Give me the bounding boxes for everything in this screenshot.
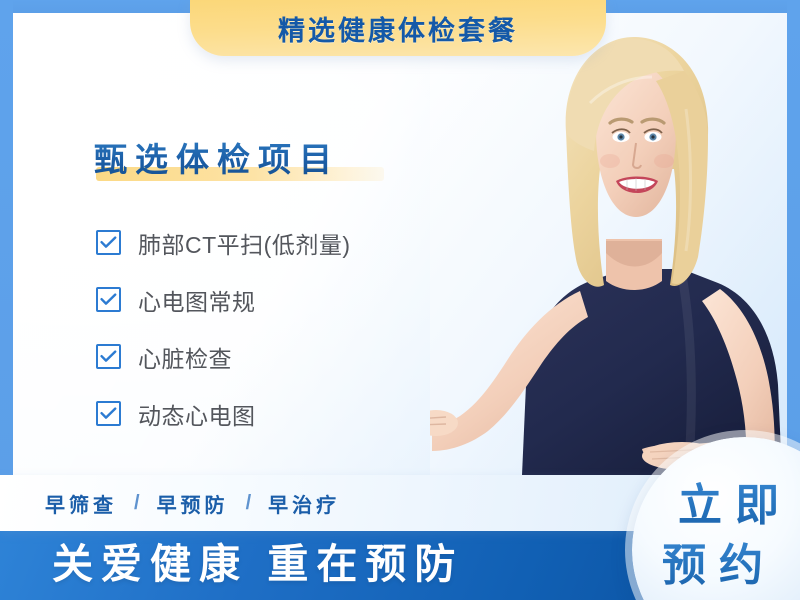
- slogan-part-treatment: 早治疗: [268, 489, 340, 518]
- section-heading: 甄选体检项目: [94, 133, 340, 181]
- checkbox-checked[interactable]: [96, 287, 121, 312]
- book-now-label-line2: 预约: [662, 529, 800, 593]
- list-item-label: 心电图常规: [138, 283, 256, 317]
- list-item[interactable]: 心电图常规: [96, 271, 350, 328]
- frame-border-left: [0, 0, 13, 492]
- slogan-separator: /: [134, 492, 140, 515]
- slogan-separator: /: [246, 492, 252, 515]
- slogan-part-prevention: 早预防: [157, 489, 229, 518]
- checkbox-checked[interactable]: [96, 401, 121, 426]
- list-item[interactable]: 肺部CT平扫(低剂量): [96, 214, 350, 271]
- top-banner-title: 精选健康体检套餐: [278, 9, 518, 48]
- list-item-label: 肺部CT平扫(低剂量): [138, 226, 350, 260]
- checkbox-checked[interactable]: [96, 230, 121, 255]
- heading-label: 甄选体检项目: [94, 133, 340, 181]
- frame-border-right: [787, 0, 800, 492]
- list-item[interactable]: 心脏检查: [96, 328, 350, 385]
- list-item-label: 动态心电图: [138, 397, 256, 431]
- list-item[interactable]: 动态心电图: [96, 385, 350, 442]
- model-photo: [430, 13, 787, 475]
- checkmark-icon: [100, 350, 117, 363]
- book-now-label-line1: 立即: [678, 469, 800, 533]
- checkmark-icon: [100, 293, 117, 306]
- health-checkup-promo-banner: 精选健康体检套餐 甄选体检项目 肺部CT平扫(低剂量) 心电图常规: [0, 0, 800, 600]
- footer-slogan: 关爱健康 重在预防: [52, 530, 463, 590]
- slogan-part-screening: 早筛查: [45, 489, 117, 518]
- checkmark-icon: [100, 407, 117, 420]
- list-item-label: 心脏检查: [138, 340, 232, 374]
- checkbox-checked[interactable]: [96, 344, 121, 369]
- checkup-item-list: 肺部CT平扫(低剂量) 心电图常规 心脏检查: [96, 214, 350, 442]
- checkmark-icon: [100, 236, 117, 249]
- top-banner: 精选健康体检套餐: [190, 0, 606, 56]
